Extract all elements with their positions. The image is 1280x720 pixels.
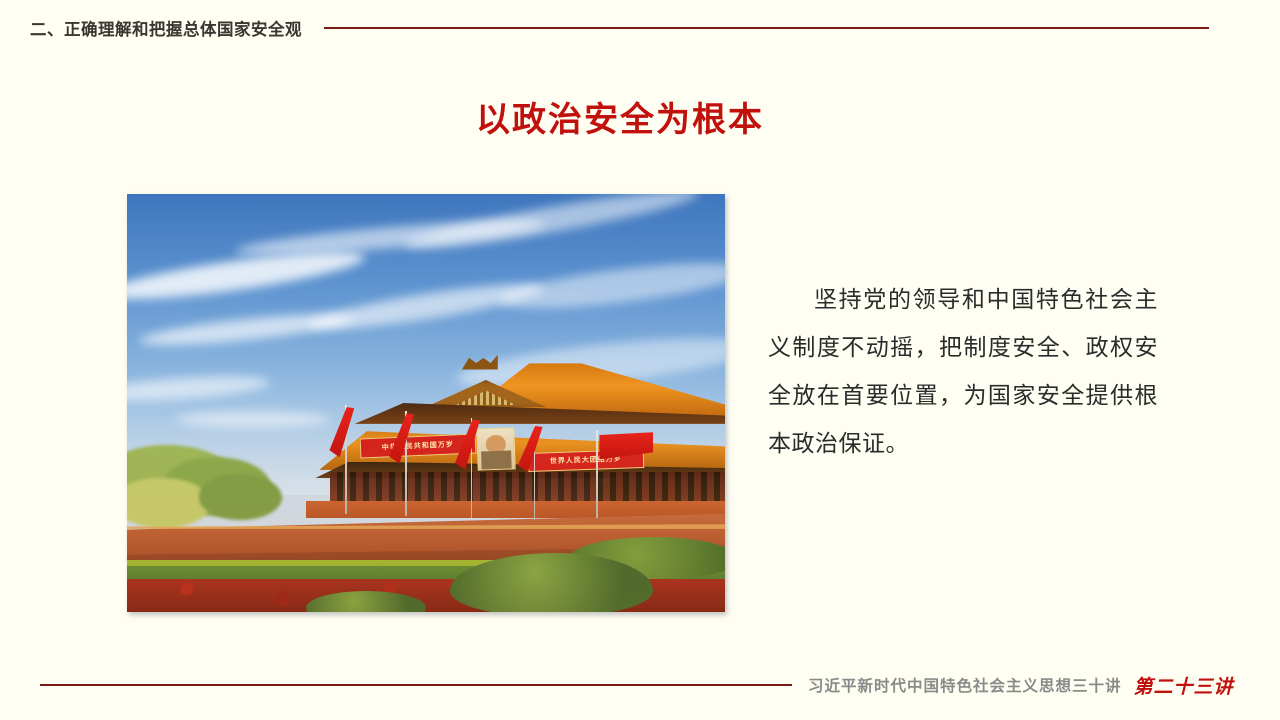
footer-series-title: 习近平新时代中国特色社会主义思想三十讲 [808, 674, 1122, 696]
portrait-frame [476, 427, 515, 470]
cloud-shape [175, 411, 330, 428]
slide-footer: 习近平新时代中国特色社会主义思想三十讲 第二十三讲 [0, 668, 1280, 702]
photo-canvas: 中华人民共和国万岁 世界人民大团结万岁 [127, 194, 725, 612]
slide-root: 二、正确理解和把握总体国家安全观 以政治安全为根本 [0, 0, 1280, 720]
tree-foliage [199, 474, 283, 520]
slide-header: 二、正确理解和把握总体国家安全观 [0, 10, 1280, 46]
tree-foliage [127, 478, 211, 528]
footer-divider-line [40, 684, 792, 686]
tiananmen-photo: 中华人民共和国万岁 世界人民大团结万岁 [127, 194, 725, 612]
portrait-body [481, 451, 512, 470]
body-paragraph: 坚持党的领导和中国特色社会主义制度不动摇，把制度安全、政权安全放在首要位置，为国… [768, 276, 1158, 468]
header-divider-line [324, 27, 1209, 29]
section-label: 二、正确理解和把握总体国家安全观 [30, 16, 302, 40]
slide-title: 以政治安全为根本 [0, 92, 1280, 141]
gate-wall-upper [306, 501, 725, 518]
flag-pole [596, 430, 598, 518]
footer-lesson-label: 第二十三讲 [1134, 672, 1234, 699]
slide-title-text: 以政治安全为根本 [476, 92, 764, 141]
